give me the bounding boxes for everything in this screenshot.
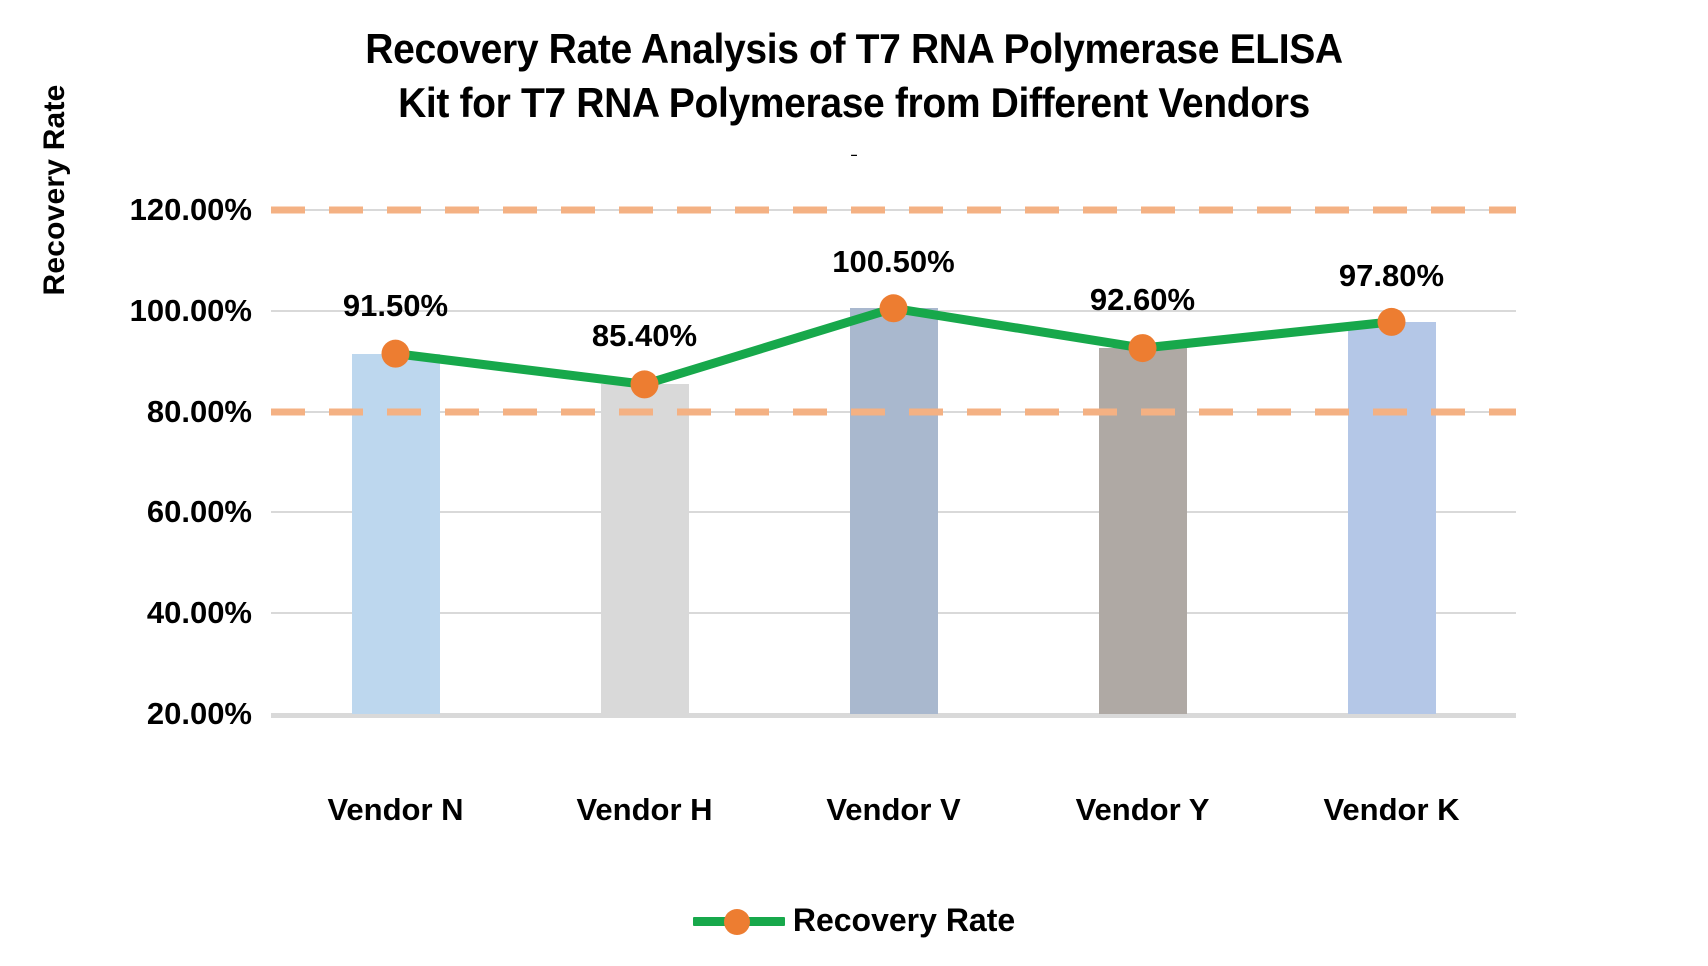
data-label-vendor-v: 100.50%: [832, 244, 954, 280]
data-point-vendor-k[interactable]: [1378, 308, 1406, 336]
x-axis-tick-label-vendor-n: Vendor N: [327, 792, 463, 828]
y-axis-tick-label: 120.00%: [72, 192, 252, 228]
legend-item-label: Recovery Rate: [793, 902, 1015, 939]
x-axis-tick-label-vendor-v: Vendor V: [826, 792, 960, 828]
data-label-vendor-y: 92.60%: [1090, 282, 1195, 318]
chart-title-line-3: ,: [0, 130, 1708, 156]
data-point-vendor-h[interactable]: [631, 370, 659, 398]
y-axis-tick-label: 60.00%: [72, 494, 252, 530]
y-axis-tick-label: 40.00%: [72, 595, 252, 631]
x-axis-line: [271, 714, 1516, 718]
chart-title-line-2: Kit for T7 RNA Polymerase from Different…: [60, 76, 1648, 130]
plot-area: 91.50%85.40%100.50%92.60%97.80%: [271, 210, 1516, 714]
recovery-rate-chart: Recovery Rate Analysis of T7 RNA Polymer…: [0, 0, 1708, 966]
x-axis-tick-label-vendor-h: Vendor H: [576, 792, 712, 828]
legend-line-marker-icon: [693, 906, 785, 936]
chart-title: Recovery Rate Analysis of T7 RNA Polymer…: [0, 22, 1708, 156]
data-point-vendor-n[interactable]: [382, 340, 410, 368]
data-label-vendor-n: 91.50%: [343, 288, 448, 324]
y-axis-tick-label: 80.00%: [72, 394, 252, 430]
chart-title-line-1: Recovery Rate Analysis of T7 RNA Polymer…: [60, 22, 1648, 76]
recovery-rate-line-series: [271, 210, 1516, 714]
data-point-vendor-y[interactable]: [1129, 334, 1157, 362]
data-label-vendor-k: 97.80%: [1339, 258, 1444, 294]
chart-legend: Recovery Rate: [0, 902, 1708, 939]
data-point-vendor-v[interactable]: [880, 294, 908, 322]
y-axis-tick-label: 20.00%: [72, 696, 252, 732]
data-label-vendor-h: 85.40%: [592, 318, 697, 354]
legend-item-recovery-rate[interactable]: Recovery Rate: [693, 902, 1015, 939]
y-axis-tick-label: 100.00%: [72, 293, 252, 329]
x-axis-tick-label-vendor-y: Vendor Y: [1076, 792, 1210, 828]
x-axis-tick-label-vendor-k: Vendor K: [1323, 792, 1459, 828]
